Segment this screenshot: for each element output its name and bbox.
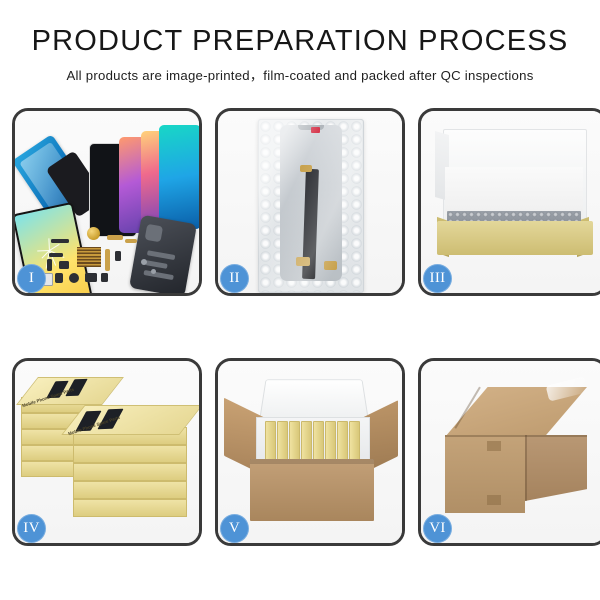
step-3-image [421,111,600,293]
foam-liner [256,417,370,465]
step-badge-6: VI [423,514,452,543]
step-2-image [218,111,402,293]
step-badge-1: I [17,264,46,293]
box-stack-front-4 [73,481,185,497]
step-4-image: Mobile Phone Spare Parts Mobile Phone Sp… [15,361,199,543]
process-step-panel-5[interactable]: V [215,358,405,546]
spare-parts-cluster [41,229,181,293]
carton-front-face [445,435,525,513]
process-step-grid: I II [12,108,588,546]
kraft-box-tray [437,221,593,255]
step-badge-2: II [220,264,249,293]
step-1-image [15,111,199,293]
carton-edge-seam [445,435,587,437]
box-stack-front-5 [73,499,185,515]
carton-tape-upper [487,441,501,451]
carton-corner-seam [525,435,527,501]
bag-highlight [258,119,362,291]
page-subtitle: All products are image-printed，film-coat… [0,65,600,84]
step-badge-5: V [220,514,249,543]
box-stack-front-2 [73,445,185,461]
process-step-panel-1[interactable]: I [12,108,202,296]
step-badge-3: III [423,264,452,293]
phone-screen-teal [159,125,199,229]
step-badge-4: IV [17,514,46,543]
step-6-image [421,361,600,543]
product-preparation-infographic: PRODUCT PREPARATION PROCESS All products… [0,0,600,600]
process-step-panel-3[interactable]: III [418,108,600,296]
carton-tape-lower [487,495,501,505]
process-step-panel-2[interactable]: II [215,108,405,296]
box-stack-front-3 [73,463,185,479]
header: PRODUCT PREPARATION PROCESS All products… [0,0,600,84]
process-step-panel-6[interactable]: VI [418,358,600,546]
carton-side-face [525,435,587,501]
carton-body [250,459,374,521]
process-step-panel-4[interactable]: Mobile Phone Spare Parts Mobile Phone Sp… [12,358,202,546]
step-5-image [218,361,402,543]
page-title: PRODUCT PREPARATION PROCESS [0,26,600,56]
